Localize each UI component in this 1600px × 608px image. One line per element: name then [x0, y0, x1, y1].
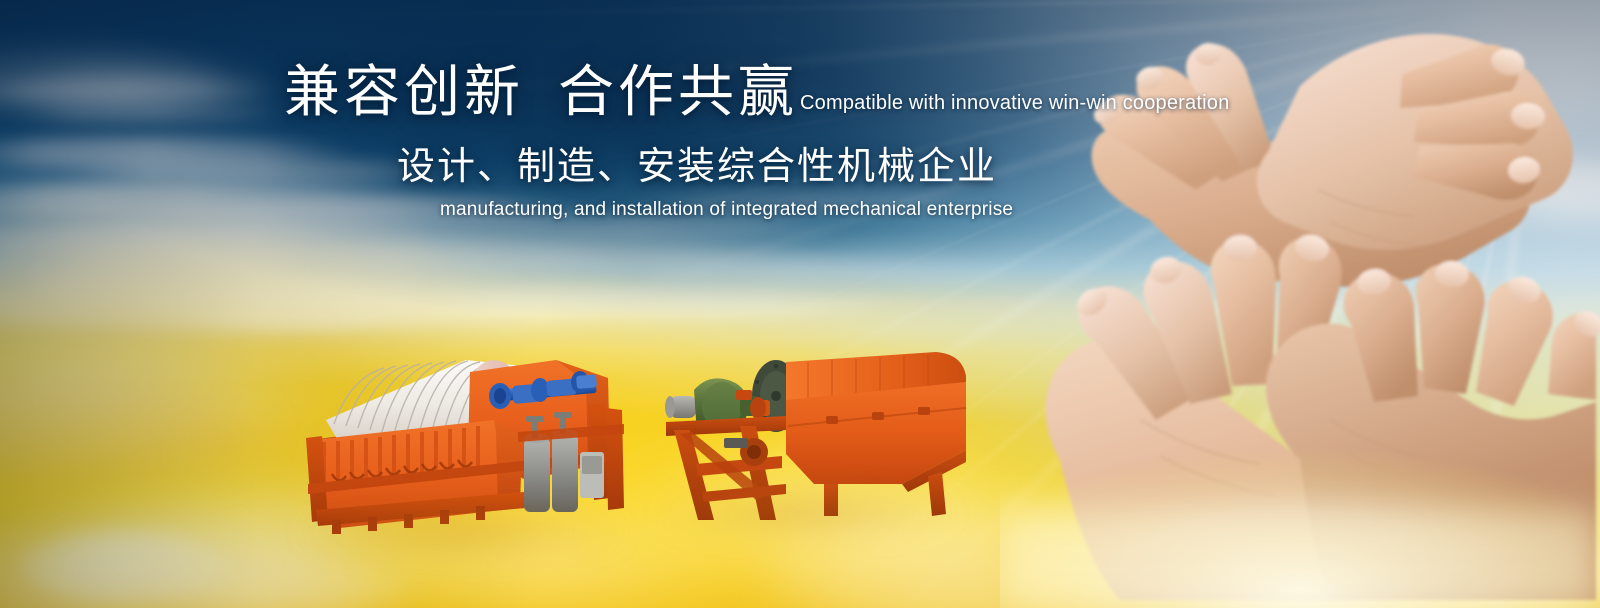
promotional-banner: 兼容创新 合作共赢 Compatible with innovative win… — [0, 0, 1600, 608]
subheadline-english: manufacturing, and installation of integ… — [440, 199, 1244, 221]
headline-chinese-secondary: 合作共赢 — [558, 62, 798, 121]
headline-chinese-primary: 兼容创新 — [284, 62, 524, 121]
ceramic-disc-vacuum-filter-machine — [288, 312, 636, 550]
magnetic-drum-separator-machine — [636, 334, 976, 524]
subheadline-chinese: 设计、制造、安装综合性机械企业 — [397, 135, 1244, 190]
headline-english: Compatible with innovative win-win coope… — [800, 93, 1229, 121]
banner-text-block: 兼容创新 合作共赢 Compatible with innovative win… — [284, 62, 1244, 221]
headline-row: 兼容创新 合作共赢 Compatible with innovative win… — [284, 62, 1244, 121]
